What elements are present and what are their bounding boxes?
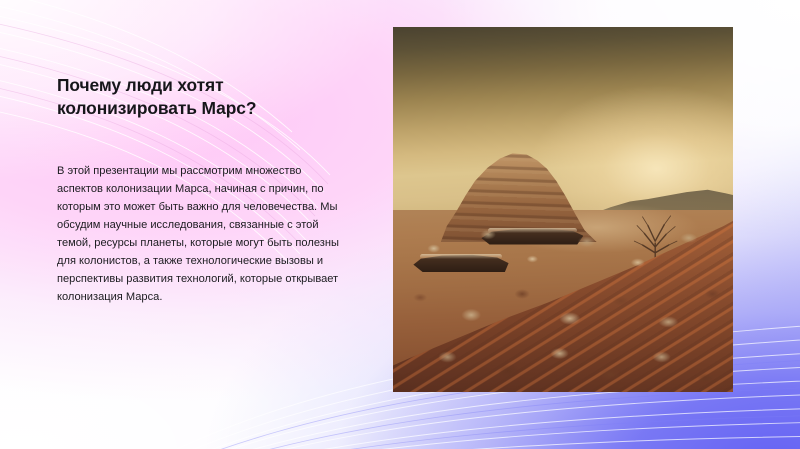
slide-title: Почему люди хотят колонизировать Марс?	[57, 74, 367, 120]
mars-image-vignette	[393, 27, 733, 392]
mars-image-content	[393, 27, 733, 392]
presentation-slide: Почему люди хотят колонизировать Марс? В…	[0, 0, 800, 449]
mars-landscape-image	[393, 27, 733, 392]
slide-body-text: В этой презентации мы рассмотрим множест…	[57, 163, 340, 307]
slide-text-column: Почему люди хотят колонизировать Марс? В…	[57, 74, 367, 120]
